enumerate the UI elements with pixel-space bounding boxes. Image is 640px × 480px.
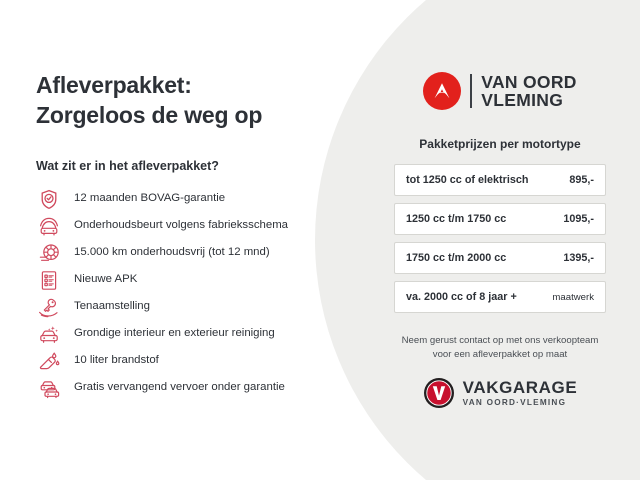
price-row-value: 895,-	[569, 174, 594, 186]
list-item-label: 12 maanden BOVAG-garantie	[74, 192, 225, 206]
table-row: 1750 cc t/m 2000 cc 1395,-	[394, 242, 606, 274]
list-item: Nieuwe APK	[36, 268, 336, 293]
right-content-column: VAN OORD VLEMING Pakketprijzen per motor…	[378, 0, 622, 480]
vakgarage-title: VAKGARAGE	[463, 379, 578, 396]
price-row-label: 1250 cc t/m 1750 cc	[406, 213, 506, 225]
list-item-label: 15.000 km onderhoudsvrij (tot 12 mnd)	[74, 246, 270, 260]
table-row: 1250 cc t/m 1750 cc 1095,-	[394, 203, 606, 235]
list-item-label: Onderhoudsbeurt volgens fabrieksschema	[74, 219, 288, 233]
list-item-label: Grondige interieur en exterieur reinigin…	[74, 327, 275, 341]
hand-key-icon	[36, 295, 62, 319]
price-row-value: 1095,-	[563, 213, 594, 225]
page-title: Afleverpakket: Zorgeloos de weg op	[36, 70, 336, 131]
table-row: tot 1250 cc of elektrisch 895,-	[394, 164, 606, 196]
list-item-label: Nieuwe APK	[74, 273, 137, 287]
wheel-icon	[36, 241, 62, 265]
brand-name: VAN OORD VLEMING	[481, 73, 576, 110]
list-item: Gratis vervangend vervoer onder garantie	[36, 376, 336, 401]
van-oord-vleming-logo: VAN OORD VLEMING	[423, 72, 576, 110]
two-cars-icon	[36, 376, 62, 400]
feature-list: 12 maanden BOVAG-garantie Onderhoudsbeur…	[36, 187, 336, 401]
price-table: tot 1250 cc of elektrisch 895,- 1250 cc …	[394, 164, 606, 320]
list-item-label: Gratis vervangend vervoer onder garantie	[74, 381, 285, 395]
price-row-value: 1395,-	[563, 252, 594, 264]
afleverpakket-banner: Afleverpakket: Zorgeloos de weg op Wat z…	[0, 0, 640, 480]
price-row-label: va. 2000 cc of 8 jaar +	[406, 291, 517, 303]
vakgarage-v-mark-icon	[423, 377, 455, 409]
contact-note: Neem gerust contact op met ons verkoopte…	[402, 334, 599, 362]
list-item-label: 10 liter brandstof	[74, 354, 159, 368]
list-item: Tenaamstelling	[36, 295, 336, 320]
left-content-column: Afleverpakket: Zorgeloos de weg op Wat z…	[36, 70, 336, 403]
list-item: Grondige interieur en exterieur reinigin…	[36, 322, 336, 347]
list-item: 10 liter brandstof	[36, 349, 336, 374]
checklist-icon	[36, 268, 62, 292]
vakgarage-logo: VAKGARAGE VAN OORD·VLEMING	[423, 377, 578, 409]
van-oord-a-mark-icon	[423, 72, 461, 110]
list-item-label: Tenaamstelling	[74, 300, 150, 314]
vakgarage-subtitle: VAN OORD·VLEMING	[463, 399, 578, 407]
fuel-nozzle-icon	[36, 349, 62, 373]
logo-divider	[470, 74, 472, 108]
list-item: Onderhoudsbeurt volgens fabrieksschema	[36, 214, 336, 239]
list-item: 12 maanden BOVAG-garantie	[36, 187, 336, 212]
price-row-value: maatwerk	[552, 292, 594, 303]
vakgarage-wordmark: VAKGARAGE VAN OORD·VLEMING	[463, 379, 578, 407]
features-subheading: Wat zit er in het afleverpakket?	[36, 159, 336, 173]
list-item: 15.000 km onderhoudsvrij (tot 12 mnd)	[36, 241, 336, 266]
car-service-icon	[36, 214, 62, 238]
price-table-title: Pakketprijzen per motortype	[419, 137, 580, 151]
price-row-label: tot 1250 cc of elektrisch	[406, 174, 528, 186]
table-row: va. 2000 cc of 8 jaar + maatwerk	[394, 281, 606, 313]
shield-check-icon	[36, 187, 62, 211]
car-sparkle-icon	[36, 322, 62, 346]
price-row-label: 1750 cc t/m 2000 cc	[406, 252, 506, 264]
